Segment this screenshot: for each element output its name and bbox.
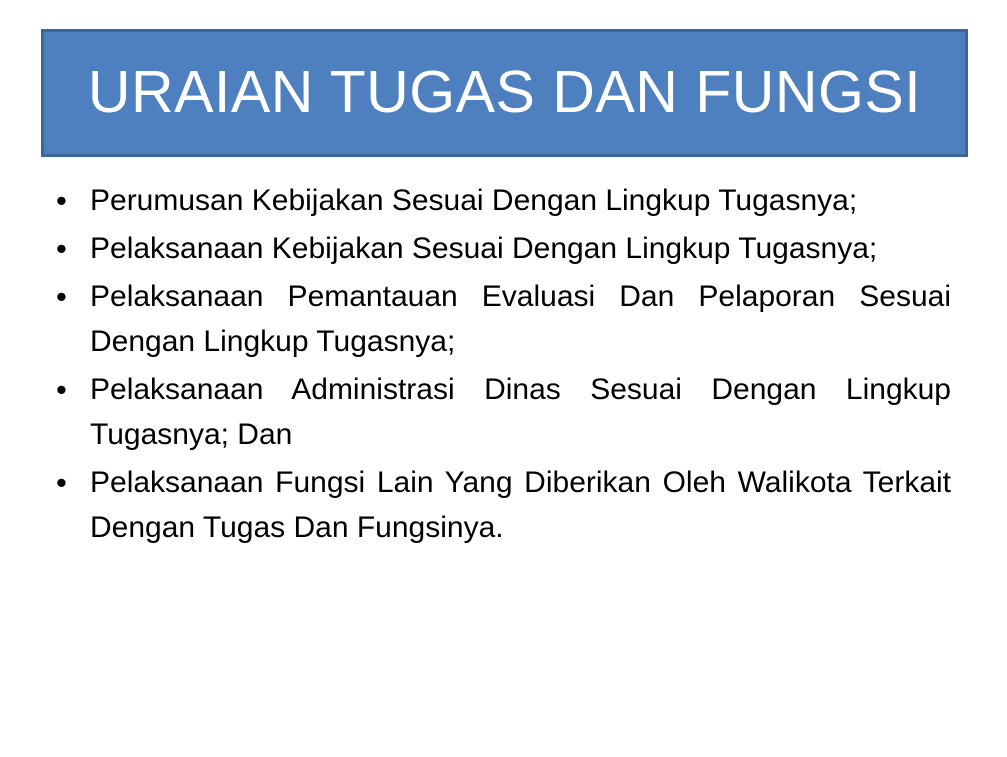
bullet-icon: • — [50, 367, 90, 412]
bullet-list: • Perumusan Kebijakan Sesuai Dengan Ling… — [50, 178, 955, 553]
list-item: • Pelaksanaan Kebijakan Sesuai Dengan Li… — [50, 226, 955, 271]
list-item-text: Pelaksanaan Administrasi Dinas Sesuai De… — [90, 367, 951, 457]
bullet-icon: • — [50, 226, 90, 271]
list-item: • Pelaksanaan Pemantauan Evaluasi Dan Pe… — [50, 274, 955, 364]
page-title: URAIAN TUGAS DAN FUNGSI — [78, 62, 931, 124]
bullet-icon: • — [50, 460, 90, 505]
list-item-text: Pelaksanaan Kebijakan Sesuai Dengan Ling… — [90, 226, 951, 271]
list-item: • Pelaksanaan Fungsi Lain Yang Diberikan… — [50, 460, 955, 550]
bullet-icon: • — [50, 274, 90, 319]
list-item: • Pelaksanaan Administrasi Dinas Sesuai … — [50, 367, 955, 457]
list-item: • Perumusan Kebijakan Sesuai Dengan Ling… — [50, 178, 955, 223]
list-item-text: Pelaksanaan Fungsi Lain Yang Diberikan O… — [90, 460, 951, 550]
list-item-text: Pelaksanaan Pemantauan Evaluasi Dan Pela… — [90, 274, 951, 364]
list-item-text: Perumusan Kebijakan Sesuai Dengan Lingku… — [90, 178, 951, 223]
title-banner: URAIAN TUGAS DAN FUNGSI — [41, 29, 968, 157]
slide-canvas: URAIAN TUGAS DAN FUNGSI • Perumusan Kebi… — [0, 0, 1007, 757]
bullet-icon: • — [50, 178, 90, 223]
